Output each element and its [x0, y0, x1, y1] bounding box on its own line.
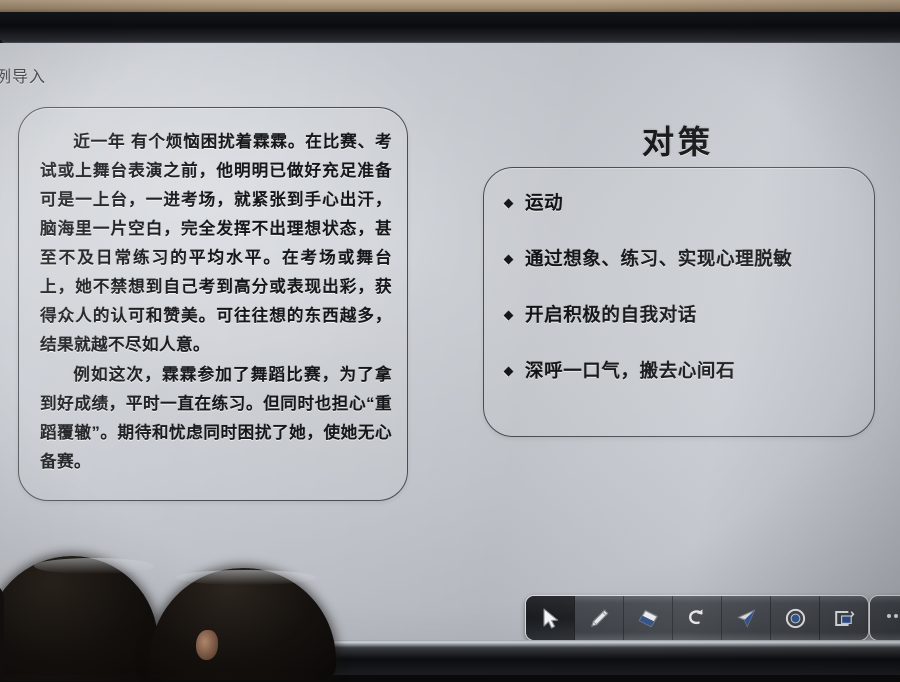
undo-tool[interactable]: [673, 596, 722, 640]
laser-pointer-icon: [734, 607, 758, 630]
case-study-text: 近一年 有个烦恼困扰着霖霖。在比赛、考试或上舞台表演之前，他明明已做好充足准备可…: [40, 127, 392, 476]
bullet-diamond-icon: [504, 311, 514, 321]
list-item: 深呼一口气，搬去心间石: [505, 357, 865, 413]
slide-header-label: 案例导入: [0, 63, 46, 87]
spotlight-circle-icon: [784, 607, 807, 630]
measure-label: 运动: [525, 189, 563, 215]
measure-label: 通过想象、练习、实现心理脱敏: [525, 245, 792, 271]
spotlight-tool[interactable]: [771, 596, 820, 640]
more-icon: [883, 606, 900, 631]
cursor-icon: [540, 607, 561, 630]
case-paragraph-1: 近一年 有个烦恼困扰着霖霖。在比赛、考试或上舞台表演之前，他明明已做好充足准备可…: [40, 127, 392, 359]
list-item: 通过想象、练习、实现心理脱敏: [505, 245, 865, 301]
more-tools[interactable]: [869, 595, 900, 640]
classroom-photo-frame: 案例导入 近一年 有个烦恼困扰着霖霖。在比赛、考试或上舞台表演之前，他明明已做好…: [0, 0, 900, 675]
list-item: 运动: [505, 189, 865, 245]
list-item: 开启积极的自我对话: [505, 301, 865, 357]
measure-label: 开启积极的自我对话: [525, 301, 697, 327]
bullet-diamond-icon: [504, 199, 514, 209]
case-paragraph-2: 例如这次，霖霖参加了舞蹈比赛，为了拿到好成绩，平时一直在练习。但同时也担心“重蹈…: [40, 360, 392, 476]
ear-detail: [196, 630, 218, 660]
eraser-icon: [636, 607, 661, 630]
measures-title: 对策: [483, 117, 873, 163]
eraser-tool[interactable]: [624, 596, 673, 640]
bullet-diamond-icon: [504, 255, 514, 265]
pen-icon: [588, 607, 611, 630]
bullet-diamond-icon: [504, 367, 514, 377]
annotation-toolbar[interactable]: [525, 595, 869, 640]
laser-pointer-tool[interactable]: [722, 596, 771, 640]
select-cursor-tool[interactable]: [526, 596, 575, 640]
interactive-whiteboard-screen[interactable]: 案例导入 近一年 有个烦恼困扰着霖霖。在比赛、考试或上舞台表演之前，他明明已做好…: [0, 43, 900, 640]
screenshot-tool[interactable]: [820, 596, 868, 640]
display-bezel-top: [0, 12, 900, 44]
screenshot-icon: [832, 607, 856, 630]
undo-icon: [685, 607, 709, 629]
measures-bullet-list: 运动 通过想象、练习、实现心理脱敏 开启积极的自我对话 深呼一口气，搬去心间石: [505, 189, 865, 413]
measure-label: 深呼一口气，搬去心间石: [525, 357, 735, 383]
pen-tool[interactable]: [575, 596, 624, 640]
